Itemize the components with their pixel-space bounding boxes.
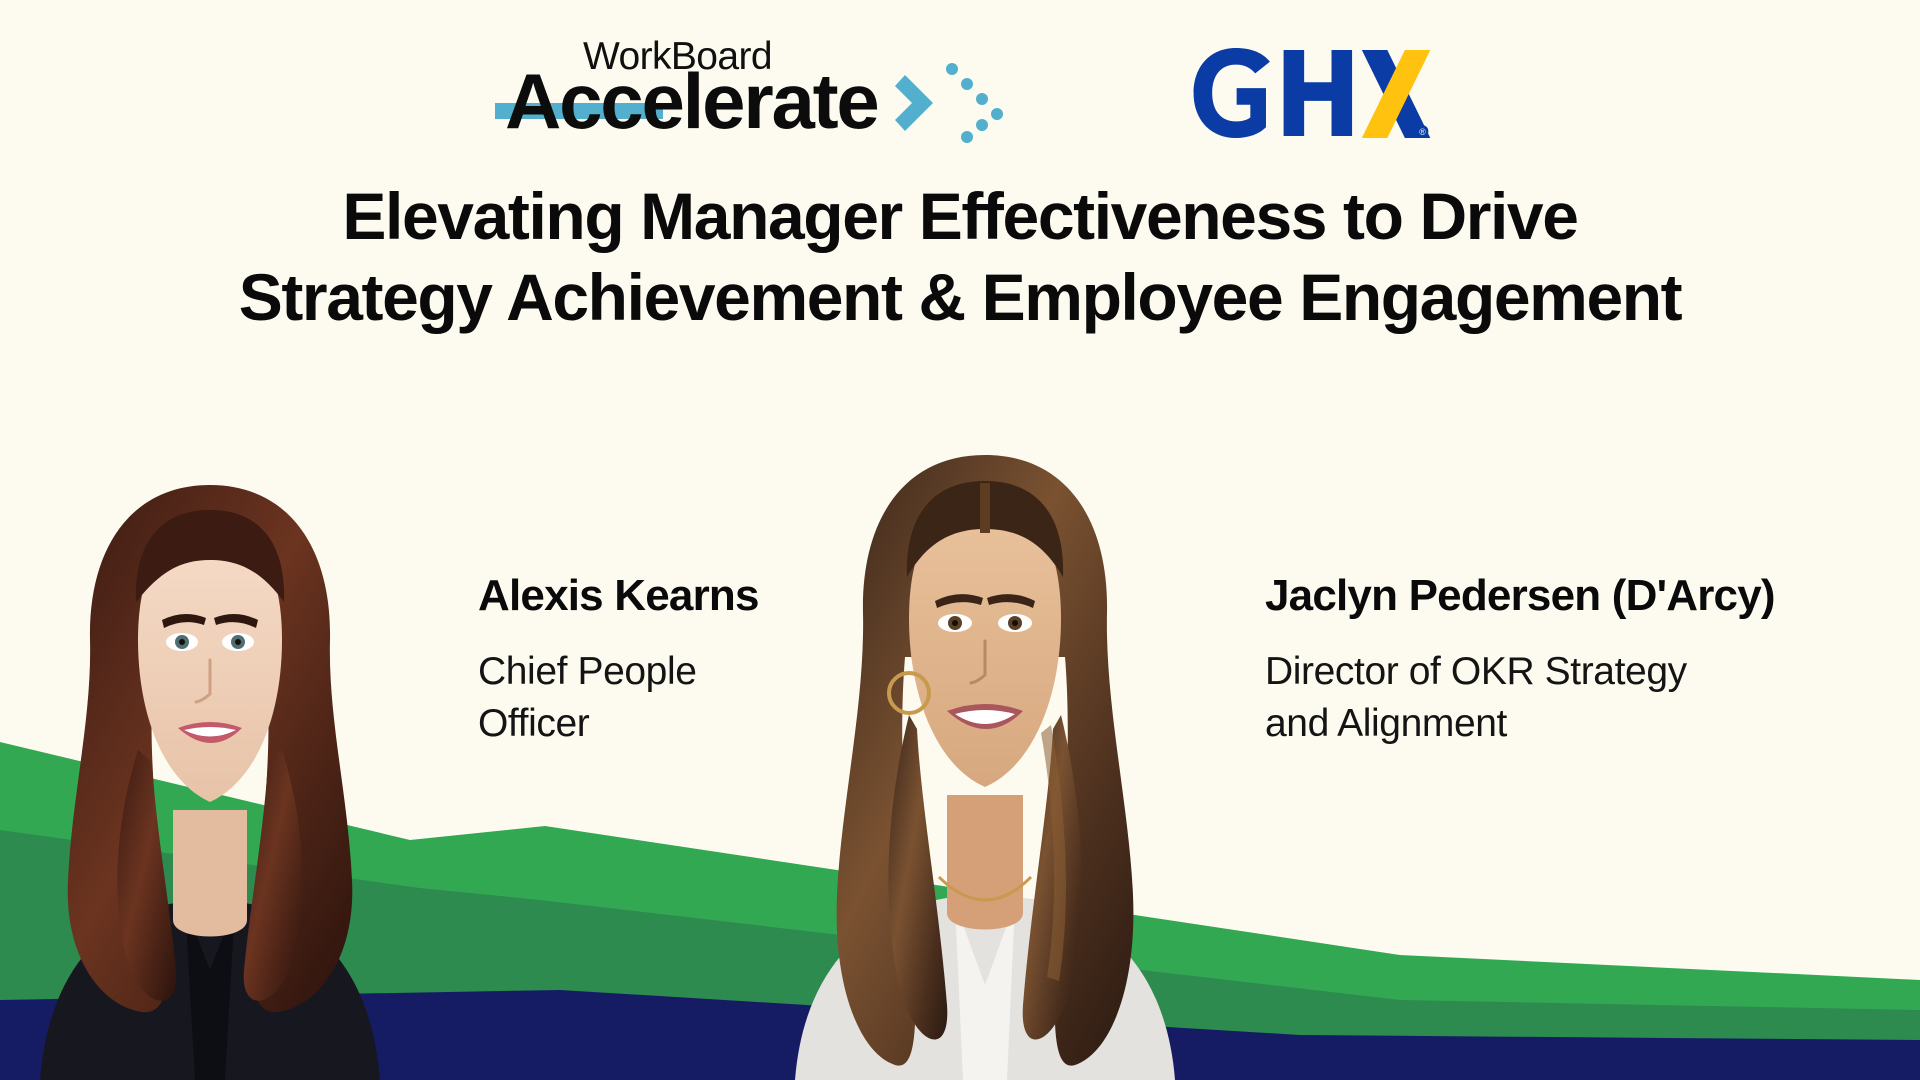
speaker-title-alexis: Chief People Officer [478, 646, 788, 751]
speaker-block-jaclyn: Jaclyn Pedersen (D'Arcy) Director of OKR… [1265, 572, 1695, 750]
headline-line-1: Elevating Manager Effectiveness to Drive [0, 176, 1920, 257]
speaker-name-alexis: Alexis Kearns [478, 572, 788, 620]
page-title: Elevating Manager Effectiveness to Drive… [0, 176, 1920, 337]
webinar-title-slide: WorkBoard Accelerate [0, 0, 1920, 1080]
logo-row: WorkBoard Accelerate [0, 38, 1920, 148]
speaker-title-jaclyn: Director of OKR Strategy and Alignment [1265, 646, 1695, 751]
speaker-name-jaclyn: Jaclyn Pedersen (D'Arcy) [1265, 572, 1695, 620]
workboard-accelerate-logo: WorkBoard Accelerate [487, 39, 1097, 147]
chevron-dots-icon [942, 63, 1030, 145]
headshot-alexis-kearns [10, 450, 410, 1080]
speaker-block-alexis: Alexis Kearns Chief People Officer [478, 572, 788, 750]
headline-line-2: Strategy Achievement & Employee Engageme… [0, 257, 1920, 338]
ghx-logo: ® [1187, 48, 1433, 138]
registered-trademark-symbol: ® [1419, 127, 1426, 137]
headshot-jaclyn-pedersen [775, 425, 1195, 1080]
accelerate-wordmark: Accelerate [505, 62, 878, 140]
